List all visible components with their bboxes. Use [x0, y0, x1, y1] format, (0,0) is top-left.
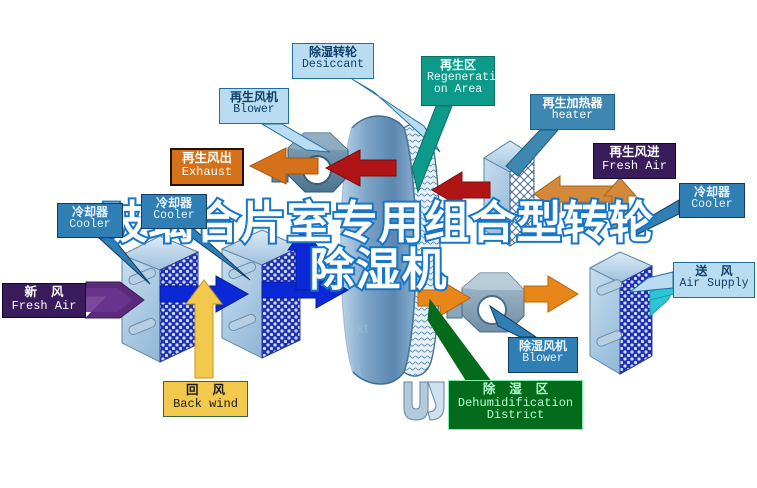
callout-back-wind: 回 风Back wind	[163, 381, 248, 417]
callout-regen-heater-cn: 再生加热器	[536, 97, 609, 110]
callout-air-supply: 送 风Air Supply	[673, 262, 755, 298]
drum-support	[404, 382, 444, 420]
callout-exhaust: 再生风出Exhaust	[170, 148, 244, 186]
callout-cooler-left-2-en: Cooler	[147, 210, 201, 222]
watermark-text: xt	[356, 320, 368, 338]
callout-regen-heater-en: heater	[536, 110, 609, 122]
callout-regen-blower-cn: 再生风机	[225, 91, 283, 104]
callout-fresh-air-cn: 新 风	[8, 286, 80, 300]
dehumidifier-diagram: xt 玻璃合片室专用组合型转轮 除湿机 除湿转轮Desiccant再生风机Blo…	[0, 0, 757, 488]
title-line-2: 除湿机	[0, 246, 757, 293]
callout-dehum-blower: 除湿风机Blower	[508, 337, 578, 373]
callout-cooler-right-en: Cooler	[685, 199, 739, 211]
callout-desiccant-cn: 除湿转轮	[298, 46, 368, 59]
callout-fresh-air-en: Fresh Air	[8, 300, 80, 313]
callout-cooler-right: 冷却器Cooler	[679, 183, 745, 218]
callout-regen-heater: 再生加热器heater	[530, 94, 615, 130]
callout-exhaust-en: Exhaust	[177, 166, 237, 179]
callout-back-wind-en: Back wind	[169, 398, 242, 411]
callout-dehum-district-cn: 除 湿 区	[454, 383, 577, 397]
callout-regen-area-cn: 再生区	[427, 59, 489, 72]
callout-dehum-district-en: Dehumidification District	[454, 397, 577, 423]
callout-regen-fresh-air-en: Fresh Air	[599, 160, 670, 173]
callout-regen-area-en: Regenerati on Area	[427, 72, 489, 97]
callout-dehum-district: 除 湿 区Dehumidification District	[448, 380, 583, 430]
callout-dehum-blower-cn: 除湿风机	[514, 340, 572, 353]
callout-regen-area: 再生区Regenerati on Area	[421, 56, 495, 106]
callout-cooler-left-2-cn: 冷却器	[147, 197, 201, 210]
callout-regen-fresh-air: 再生风进Fresh Air	[593, 143, 676, 179]
callout-fresh-air: 新 风Fresh Air	[2, 283, 86, 318]
callout-regen-fresh-air-cn: 再生风进	[599, 146, 670, 160]
callout-cooler-left-1-en: Cooler	[63, 219, 117, 231]
callout-desiccant-en: Desiccant	[298, 59, 368, 71]
callout-regen-blower: 再生风机Blower	[219, 88, 289, 124]
callout-cooler-right-cn: 冷却器	[685, 186, 739, 199]
callout-exhaust-cn: 再生风出	[177, 152, 237, 166]
callout-cooler-left-1: 冷却器Cooler	[57, 203, 123, 238]
callout-cooler-left-2: 冷却器Cooler	[141, 194, 207, 229]
callout-regen-blower-en: Blower	[225, 104, 283, 116]
callout-air-supply-en: Air Supply	[679, 278, 749, 290]
callout-back-wind-cn: 回 风	[169, 384, 242, 398]
callout-desiccant: 除湿转轮Desiccant	[292, 43, 374, 79]
callout-cooler-left-1-cn: 冷却器	[63, 206, 117, 219]
callout-air-supply-cn: 送 风	[679, 265, 749, 278]
callout-dehum-blower-en: Blower	[514, 353, 572, 365]
